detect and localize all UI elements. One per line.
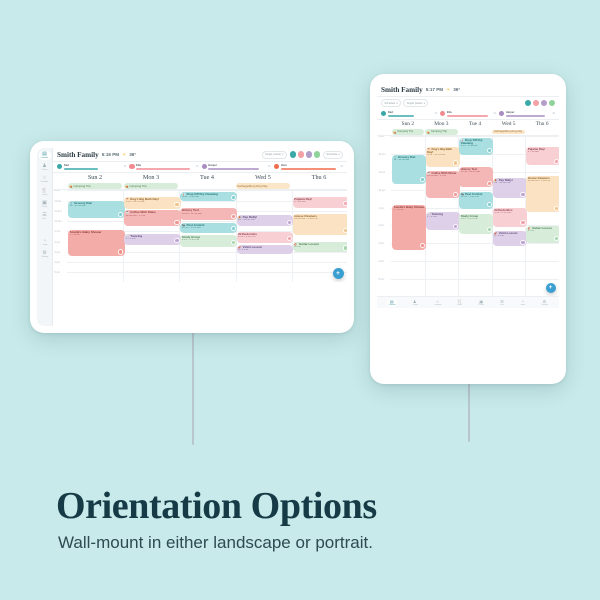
event-time: 12:15 - 1:15 PM: [182, 227, 236, 230]
page-title: Smith Family: [381, 86, 423, 94]
nav-item-meals[interactable]: 🍴Meals: [456, 299, 464, 307]
all-day-event[interactable]: ⛺Camping Trip: [68, 183, 123, 189]
day-header-row: Sun 2Mon 3Tue 4Wed 5Thu 6: [377, 120, 559, 129]
sidebar-item-label: Chores: [41, 169, 47, 171]
single-select[interactable]: Single (week)▾: [403, 99, 428, 107]
time-gutter: 9 am10 am11 am12 pm1 pm2 pm3 pm4 pm5 pm: [377, 136, 391, 296]
calendar-event[interactable]: 🐕 Dog's Big Bath Day!9:15 - 10:15 AM: [124, 197, 181, 209]
calendar-event[interactable]: 🎻 Violin Lesson3 - 4 PM: [493, 231, 527, 246]
nav-item-label: Meals: [458, 304, 463, 306]
schedule-select[interactable]: Schedule▾: [381, 99, 401, 107]
sidebar-item-settings[interactable]: ⚙Settings: [39, 250, 51, 259]
event-time: 10 - 11:30 AM: [70, 205, 124, 208]
event-time: 10 - 11:30 AM: [394, 159, 425, 162]
member-chip-mom[interactable]: Mom16: [274, 164, 343, 170]
calendar-event[interactable]: ☕ Coffee With Diane11:30 AM - 1 PM: [426, 171, 460, 198]
avatar[interactable]: [541, 100, 547, 106]
app-toolbar-row: Schedule▾Single (week)▾: [377, 97, 559, 109]
day-header: Sun 2: [391, 121, 425, 127]
event-time: 11:30 AM - 1:30 PM: [528, 180, 559, 183]
member-avatar: [381, 111, 386, 116]
calendar-event[interactable]: 🎸 Guitar Lesson4 PM: [526, 226, 559, 243]
calendar-event[interactable]: 🎉 Pep Rally!12 - 12:50 PM: [493, 178, 527, 198]
sidebar-item-label: Lists: [43, 218, 47, 220]
all-day-event-title: Camping Trip: [73, 184, 90, 188]
event-time: 10:50 - 11:50 AM: [461, 171, 492, 174]
member-count: 12: [493, 112, 496, 115]
event-owner-dot: [231, 214, 236, 219]
nav-item-calendar[interactable]: ▤Calendar: [387, 299, 398, 307]
nav-item-chores[interactable]: ♟Chores: [410, 299, 419, 307]
day-header-row: Sun 2Mon 3Tue 4Wed 5Thu 6: [53, 173, 347, 183]
event-owner-dot: [453, 160, 458, 165]
event-time: 1:15 - 2:15 PM: [238, 236, 292, 239]
time-label: 12 pm: [378, 189, 385, 192]
poster-stage: ▤Calendar♟Chores☆Rewards🍴Meals▣Photos☰Li…: [0, 0, 600, 600]
time-label: 5 pm: [54, 271, 60, 274]
calendar-event[interactable]: Pajama Day!9 - 10 AM: [293, 197, 347, 208]
all-day-cell: [291, 183, 347, 189]
event-time: 4 PM: [294, 246, 347, 249]
member-name: Harper: [506, 111, 551, 114]
member-name: Harper: [208, 164, 266, 167]
member-progress: [281, 168, 336, 170]
day-header: Thu 6: [291, 174, 347, 181]
time-label: 11 am: [378, 171, 385, 174]
schedule-select-label: Schedule: [326, 153, 337, 156]
calendar-event[interactable]: House Cleaners11:30 AM - 1:30 PM: [526, 176, 559, 212]
event-time: 11:30 AM - 1 PM: [427, 175, 458, 178]
sidebar-item-label: Meals: [42, 194, 47, 196]
all-day-event-title: Camping Trip: [397, 130, 413, 133]
all-day-event-title: Camping Trip: [129, 184, 146, 188]
all-day-cell: [179, 183, 235, 189]
event-owner-dot: [231, 226, 236, 231]
day-header: Sun 2: [67, 174, 123, 181]
sidebar-item-rewards[interactable]: ☆Rewards: [39, 175, 51, 184]
time-label: 3 pm: [378, 242, 384, 245]
event-owner-dot: [487, 181, 492, 186]
calendar-event[interactable]: Orthodontics1:15 - 2:15 PM: [493, 208, 527, 226]
all-day-event[interactable]: Garbage/Recycling Day: [492, 130, 524, 135]
member-count: 10: [552, 112, 555, 115]
member-meta: Harper: [506, 111, 551, 117]
member-avatar: [202, 164, 207, 169]
calendar-event[interactable]: 🎻 Violin Lesson3 - 4 PM: [237, 245, 294, 254]
calendar-grid: 9 am10 am11 am12 pm1 pm2 pm3 pm4 pm5 pm🛒…: [377, 136, 559, 296]
sidebar-item-label: Photos: [42, 206, 48, 208]
event-time: 1 - 3 PM: [70, 234, 124, 237]
member-meta: Mom: [281, 164, 339, 170]
event-time: 3 - 4 PM: [238, 249, 292, 252]
time-gutter: 9 am10 am11 am12 pm1 pm2 pm3 pm4 pm5 pm: [53, 190, 67, 282]
event-time: 12:15 - 1:15 PM: [461, 196, 492, 199]
event-owner-dot: [487, 202, 492, 207]
member-bar: Dad14Ella12Harper10: [377, 109, 559, 120]
nav-item-label: Rewards: [434, 304, 441, 306]
calendar-event[interactable]: Amelia's Baby Shower1 - 3 PM: [68, 230, 125, 256]
event-emoji: ⛺: [393, 130, 396, 134]
calendar-event[interactable]: 👔 Drop Off Dry Cleaning8:55 - 9:50 AM: [180, 192, 237, 202]
avatar-group[interactable]: [290, 151, 320, 157]
member-count: 10: [268, 165, 271, 168]
page-title: Smith Family: [57, 151, 99, 159]
member-name: Ella: [447, 111, 492, 114]
event-emoji: ⛺: [69, 184, 73, 188]
calendar-event[interactable]: 🛒 Grocery Run10 - 11:30 AM: [68, 201, 125, 218]
power-cord-landscape: [192, 330, 194, 445]
calendar-event[interactable]: Pajama Day!9 - 10 AM: [526, 147, 559, 165]
grid-line: [391, 261, 559, 262]
calendar-event[interactable]: 🎸 Guitar Lesson4 PM: [293, 242, 347, 252]
all-day-cell: [458, 129, 492, 135]
avatar[interactable]: [306, 151, 312, 157]
chevron-down-icon: ▾: [424, 102, 425, 105]
sidebar-item-photos[interactable]: ▣Photos: [39, 200, 51, 209]
sidebar-item-label: Calendar: [41, 157, 49, 159]
event-time: 1 - 2 PM: [126, 238, 180, 241]
event-owner-dot: [343, 228, 347, 233]
time-label: 2 pm: [378, 224, 384, 227]
avatar[interactable]: [549, 100, 555, 106]
nav-item-label: Settings: [541, 304, 547, 306]
event-time: 10:50 - 11:50 AM: [182, 213, 236, 216]
sidebar-item-lists[interactable]: ☰Lists: [39, 212, 51, 221]
all-day-event-title: Garbage/Recycling Day: [494, 130, 522, 133]
nav-item-label: Chores: [412, 304, 417, 306]
member-chip-harper[interactable]: Harper10: [499, 111, 555, 117]
time-gutter-spacer: [53, 183, 67, 189]
sidebar-item-label: Rewards: [41, 182, 48, 184]
event-owner-dot: [343, 201, 347, 206]
all-day-event[interactable]: ⛺Camping Trip: [425, 129, 457, 135]
add-event-fab[interactable]: +: [333, 268, 344, 279]
event-owner-dot: [420, 243, 425, 248]
time-label: 4 pm: [378, 260, 384, 263]
grid-line: [67, 272, 347, 273]
screen-portrait: Smith Family5:17 PM☀36°Schedule▾Single (…: [377, 83, 559, 375]
clock-time: 5:16 PM: [102, 152, 119, 157]
single-select-label: Single (week): [407, 102, 423, 105]
member-chip-harper[interactable]: Harper10: [202, 164, 271, 170]
event-owner-dot: [520, 192, 525, 197]
tablet-landscape: ▤Calendar♟Chores☆Rewards🍴Meals▣Photos☰Li…: [30, 141, 354, 333]
add-event-fab[interactable]: +: [546, 283, 556, 293]
schedule-select[interactable]: Schedule▾: [323, 151, 343, 159]
event-emoji: ⛺: [427, 130, 430, 134]
calendar-event[interactable]: 📖 Tutoring1 - 2 PM: [426, 212, 460, 230]
all-day-cell: Garbage/Recycling Day: [492, 129, 526, 135]
calendar-event[interactable]: 🐜 Pest Control12:15 - 1:15 PM: [459, 192, 493, 209]
all-day-cell: ⛺Camping Trip: [425, 129, 459, 135]
chevron-down-icon: ▾: [282, 153, 283, 156]
all-day-cell: ⛺Camping Trip: [123, 183, 179, 189]
event-owner-dot: [520, 240, 525, 245]
page-subhead: Wall-mount in either landscape or portra…: [58, 533, 373, 553]
event-owner-dot: [118, 249, 123, 254]
time-label: 11 am: [54, 210, 61, 213]
nav-item-photos[interactable]: ▣Photos: [477, 299, 486, 307]
member-name: Ella: [136, 164, 194, 167]
time-label: 9 am: [54, 190, 60, 192]
event-time: 11:30 AM - 1 PM: [126, 215, 180, 218]
member-chip-ella[interactable]: Ella12: [129, 164, 198, 170]
time-label: 3 pm: [54, 251, 60, 254]
event-time: 8:55 - 9:50 AM: [182, 196, 236, 199]
member-count: 14: [434, 112, 437, 115]
app-topbar: Smith Family5:17 PM☀36°: [377, 83, 559, 97]
event-time: 9 - 10 AM: [294, 201, 347, 204]
event-owner-dot: [554, 159, 559, 164]
all-day-event[interactable]: Garbage/Recycling Day: [236, 183, 291, 189]
event-owner-dot: [174, 220, 179, 225]
day-header: Tue 4: [458, 121, 492, 127]
event-owner-dot: [487, 148, 492, 153]
time-label: 1 pm: [378, 207, 384, 210]
time-gutter-spacer: [53, 174, 67, 181]
all-day-cell: [525, 129, 559, 135]
event-time: 2:15 - 3:15 PM: [182, 239, 236, 242]
member-chip-dad[interactable]: Dad14: [381, 111, 437, 117]
nav-item-label: Guide: [520, 304, 525, 306]
bottom-nav: ▤Calendar♟Chores☆Rewards🍴Meals▣Photos☰Li…: [377, 296, 559, 308]
single-select[interactable]: Single (week)▾: [262, 151, 287, 159]
event-time: 3 - 4 PM: [494, 235, 525, 238]
calendar-app-portrait: Smith Family5:17 PM☀36°Schedule▾Single (…: [377, 83, 559, 375]
event-owner-dot: [420, 177, 425, 182]
nav-item-rewards[interactable]: ☆Rewards: [432, 299, 442, 307]
member-count: 14: [124, 165, 127, 168]
day-header: Wed 5: [492, 121, 526, 127]
nav-item-label: Calendar: [388, 304, 395, 306]
day-header: Wed 5: [235, 174, 291, 181]
member-progress: [208, 168, 258, 170]
avatar[interactable]: [314, 151, 320, 157]
member-chip-ella[interactable]: Ella12: [440, 111, 496, 117]
event-time: 1 - 2 PM: [427, 216, 458, 219]
sidebar-item-label: Guide: [42, 244, 47, 246]
event-emoji: ⛺: [125, 184, 129, 188]
event-time: 2:15 - 3:15 PM: [461, 218, 492, 221]
calendar-event[interactable]: 🐕 Dog's Big Bath Day!9:15 - 10:15 AM: [426, 147, 460, 167]
sidebar-item-meals[interactable]: 🍴Meals: [39, 188, 51, 197]
calendar-grid: 9 am10 am11 am12 pm1 pm2 pm3 pm4 pm5 pm🛒…: [53, 190, 347, 282]
time-label: 1 pm: [54, 230, 60, 233]
photos-icon: ▣: [42, 201, 47, 206]
event-time: 1:15 - 2:15 PM: [494, 212, 525, 215]
avatar-group[interactable]: [525, 100, 555, 106]
event-owner-dot: [554, 236, 559, 241]
app-body: Smith Family5:16 PM☀36°Single (week)▾Sch…: [53, 148, 347, 326]
grid-line: [67, 262, 347, 263]
event-time: 12 - 12:50 PM: [494, 182, 525, 185]
sun-icon: ☀: [446, 87, 450, 93]
time-label: 12 pm: [54, 220, 61, 223]
nav-item-settings[interactable]: ⚙Settings: [540, 299, 550, 307]
calendar-event[interactable]: 🎉 Pep Rally!12 - 12:50 PM: [237, 215, 294, 227]
clock-time: 5:17 PM: [426, 87, 443, 92]
member-progress: [136, 168, 190, 170]
calendar-event[interactable]: 📖 Tutoring1 - 2 PM: [124, 234, 181, 245]
time-gutter-spacer: [377, 121, 391, 127]
event-time: 12 - 12:50 PM: [238, 219, 292, 222]
event-owner-dot: [174, 238, 179, 243]
time-label: 2 pm: [54, 241, 60, 244]
calendar-event[interactable]: Study Group2:15 - 3:15 PM: [459, 214, 493, 234]
calendar-event[interactable]: History Test10:50 - 11:50 AM: [180, 208, 237, 220]
all-day-cell: Garbage/Recycling Day: [235, 183, 291, 189]
event-owner-dot: [231, 195, 236, 200]
member-avatar: [57, 164, 62, 169]
meals-icon: 🍴: [41, 189, 47, 194]
single-select-label: Single (week): [265, 153, 281, 156]
event-time: 9:15 - 10:15 AM: [126, 201, 180, 204]
sidebar-item-calendar[interactable]: ▤Calendar: [39, 151, 51, 160]
member-meta: Ella: [136, 164, 194, 170]
calendar-event[interactable]: History Test10:50 - 11:50 AM: [459, 167, 493, 187]
nav-item-lists[interactable]: ☰Lists: [499, 299, 506, 307]
time-label: 5 pm: [378, 278, 384, 281]
all-day-event[interactable]: ⛺Camping Trip: [392, 129, 424, 135]
day-header: Mon 3: [425, 121, 459, 127]
event-owner-dot: [231, 240, 236, 245]
time-gutter-spacer: [377, 129, 391, 135]
member-progress: [388, 115, 414, 117]
all-day-event[interactable]: ⛺Camping Trip: [124, 183, 179, 189]
avatar[interactable]: [525, 100, 531, 106]
member-meta: Harper: [208, 164, 266, 170]
calendar-app-landscape: ▤Calendar♟Chores☆Rewards🍴Meals▣Photos☰Li…: [37, 148, 347, 326]
event-owner-dot: [453, 224, 458, 229]
calendar-event[interactable]: 🐜 Pest Control12:15 - 1:15 PM: [180, 223, 237, 233]
avatar[interactable]: [533, 100, 539, 106]
event-time: 1 - 3 PM: [394, 209, 425, 212]
time-label: 10 am: [378, 153, 385, 156]
all-day-row: ⛺Camping Trip⛺Camping TripGarbage/Recycl…: [377, 128, 559, 136]
member-bar: Dad14Ella12Harper10Mom16: [53, 162, 347, 173]
member-count: 16: [340, 165, 343, 168]
nav-item-label: Lists: [500, 304, 504, 306]
member-name: Mom: [281, 164, 339, 167]
event-time: 8:55 - 9:50 AM: [461, 145, 492, 148]
calendar-event[interactable]: 🛒 Grocery Run10 - 11:30 AM: [392, 155, 426, 184]
event-owner-dot: [554, 206, 559, 211]
calendar-event[interactable]: Amelia's Baby Shower1 - 3 PM: [392, 205, 426, 250]
event-time: 4 PM: [528, 230, 559, 233]
day-header: Mon 3: [123, 174, 179, 181]
tablet-portrait: Smith Family5:17 PM☀36°Schedule▾Single (…: [370, 74, 566, 384]
member-name: Dad: [64, 164, 122, 167]
nav-item-guide[interactable]: ◔Guide: [519, 299, 527, 307]
member-meta: Dad: [388, 111, 433, 117]
app-body: Smith Family5:17 PM☀36°Schedule▾Single (…: [377, 83, 559, 375]
all-day-row: ⛺Camping Trip⛺Camping TripGarbage/Recycl…: [53, 182, 347, 190]
temperature: 36°: [453, 87, 460, 92]
member-progress: [64, 168, 98, 170]
sidebar-rail: ▤Calendar♟Chores☆Rewards🍴Meals▣Photos☰Li…: [37, 148, 53, 326]
event-owner-dot: [487, 227, 492, 232]
avatar[interactable]: [290, 151, 296, 157]
time-label: 10 am: [54, 200, 61, 203]
grid-line: [391, 279, 559, 280]
member-name: Dad: [388, 111, 433, 114]
sidebar-item-guide[interactable]: ◔Guide: [39, 238, 51, 247]
nav-item-label: Photos: [479, 304, 484, 306]
sidebar-item-label: Settings: [41, 256, 48, 258]
member-avatar: [129, 164, 134, 169]
member-count: 12: [196, 165, 199, 168]
day-header: Thu 6: [525, 121, 559, 127]
member-avatar: [499, 111, 504, 116]
time-label: 9 am: [378, 136, 384, 138]
member-progress: [506, 115, 545, 117]
temperature: 36°: [129, 152, 136, 157]
calendar-event[interactable]: 👔 Drop Off Dry Cleaning8:55 - 9:50 AM: [459, 138, 493, 155]
all-day-event-title: Camping Trip: [431, 130, 447, 133]
schedule-select-label: Schedule: [384, 102, 395, 105]
event-owner-dot: [287, 236, 292, 241]
power-cord-portrait: [468, 382, 470, 442]
sun-icon: ☀: [122, 152, 126, 158]
avatar[interactable]: [298, 151, 304, 157]
calendar-event[interactable]: Orthodontics1:15 - 2:15 PM: [237, 232, 294, 243]
all-day-cell: ⛺Camping Trip: [391, 129, 425, 135]
event-owner-dot: [174, 202, 179, 207]
event-owner-dot: [118, 212, 123, 217]
event-owner-dot: [520, 220, 525, 225]
all-day-event-title: Garbage/Recycling Day: [237, 184, 268, 188]
sidebar-item-chores[interactable]: ♟Chores: [39, 163, 51, 172]
event-owner-dot: [343, 245, 347, 250]
member-meta: Dad: [64, 164, 122, 170]
member-avatar: [440, 111, 445, 116]
event-time: 9:15 - 10:15 AM: [427, 154, 458, 157]
event-time: 11:30 AM - 1:30 PM: [294, 218, 347, 221]
screen-landscape: ▤Calendar♟Chores☆Rewards🍴Meals▣Photos☰Li…: [37, 148, 347, 326]
all-day-cell: ⛺Camping Trip: [67, 183, 123, 189]
member-chip-dad[interactable]: Dad14: [57, 164, 126, 170]
calendar-event[interactable]: ☕ Coffee With Diane11:30 AM - 1 PM: [124, 210, 181, 226]
chevron-down-icon: ▾: [396, 102, 397, 105]
event-owner-dot: [453, 192, 458, 197]
page-headline: Orientation Options: [56, 484, 377, 528]
chevron-down-icon: ▾: [338, 153, 339, 156]
calendar-event[interactable]: Study Group2:15 - 3:15 PM: [180, 235, 237, 247]
day-header: Tue 4: [179, 174, 235, 181]
calendar-event[interactable]: House Cleaners11:30 AM - 1:30 PM: [293, 214, 347, 235]
member-progress: [447, 115, 489, 117]
app-topbar: Smith Family5:16 PM☀36°Single (week)▾Sch…: [53, 148, 347, 162]
member-avatar: [274, 164, 279, 169]
member-meta: Ella: [447, 111, 492, 117]
event-owner-dot: [287, 220, 292, 225]
time-label: 4 pm: [54, 261, 60, 264]
event-time: 9 - 10 AM: [528, 151, 559, 154]
